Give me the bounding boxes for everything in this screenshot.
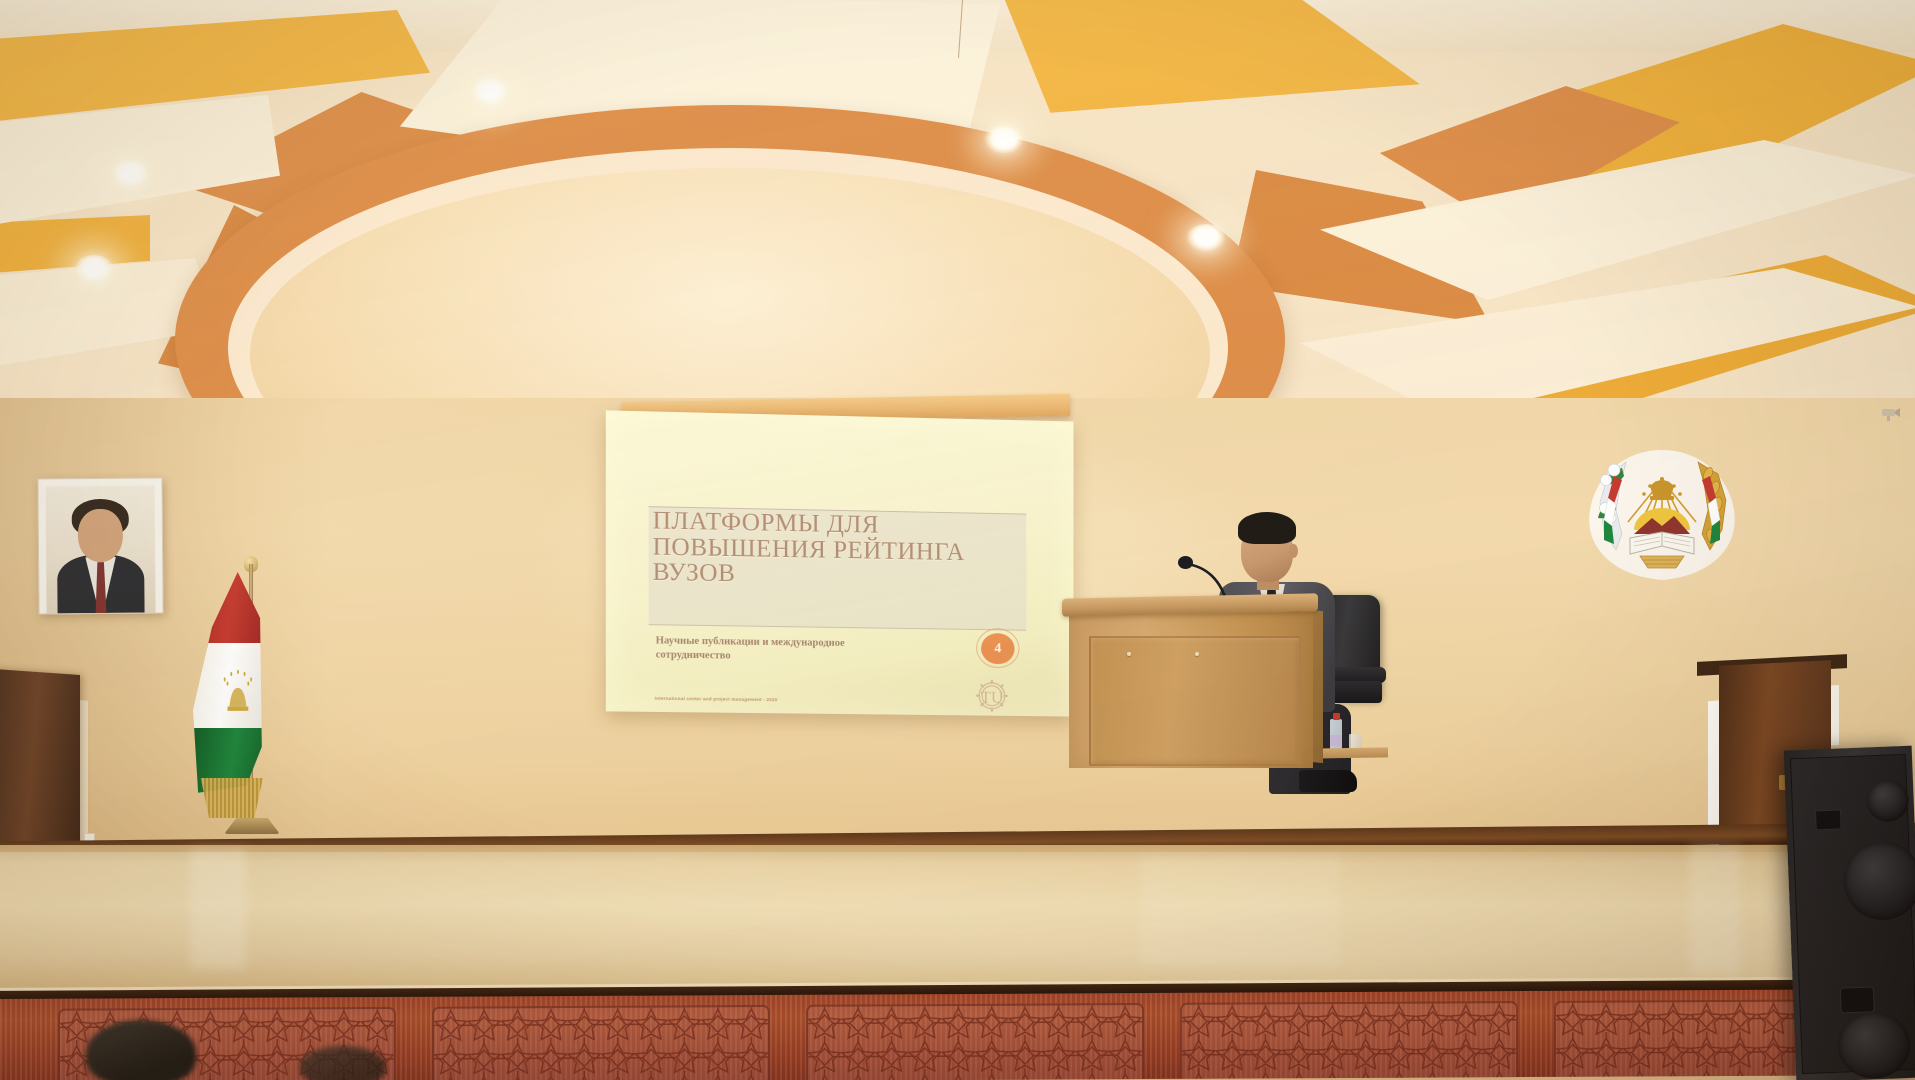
pa-speaker-tweeter <box>1866 779 1910 823</box>
floor-reflection <box>190 849 246 969</box>
pa-speaker-woofer <box>1842 840 1915 921</box>
slide-title: ПЛАТФОРМЫ ДЛЯ ПОВЫШЕНИЯ РЕЙТИНГА ВУЗОВ <box>653 508 1039 591</box>
presenter-hair <box>1238 512 1296 544</box>
recessed-downlight <box>984 126 1024 154</box>
water-bottle[interactable] <box>1330 713 1342 753</box>
stage-front-panel <box>1554 1000 1804 1080</box>
recessed-downlight <box>74 255 114 283</box>
pa-speaker-woofer <box>1837 1011 1911 1080</box>
flag-crown-emblem <box>219 669 257 715</box>
portrait-face <box>77 509 123 563</box>
tajikistan-national-emblem <box>1578 446 1746 584</box>
presenter-ear <box>1289 544 1298 558</box>
floor-reflection <box>1140 855 1340 965</box>
stage-front-panel <box>432 1005 770 1080</box>
presidential-portrait <box>37 477 163 614</box>
auditorium-scene: ПЛАТФОРМЫ ДЛЯ ПОВЫШЕНИЯ РЕЙТИНГА ВУЗОВ Н… <box>0 0 1915 1080</box>
bottle-label <box>1330 735 1342 746</box>
pa-speaker-handle <box>1840 986 1875 1013</box>
tajikistan-flag <box>196 556 306 846</box>
recessed-downlight <box>1186 224 1226 252</box>
podium-body <box>1069 612 1313 768</box>
security-camera-icon <box>1880 404 1902 422</box>
stage-floor <box>0 845 1915 997</box>
svg-text:TU: TU <box>981 688 1003 707</box>
portrait-photo <box>45 486 155 614</box>
stage-front-panel <box>1180 1001 1518 1080</box>
tu-gear-logo: TU <box>971 676 1012 716</box>
bottle-cap <box>1333 713 1340 720</box>
pa-speaker-face <box>1790 754 1915 1074</box>
screen-surface: ПЛАТФОРМЫ ДЛЯ ПОВЫШЕНИЯ РЕЙТИНГА ВУЗОВ Н… <box>606 410 1074 716</box>
recessed-downlight <box>110 160 150 188</box>
stage-front-panel <box>806 1003 1144 1080</box>
podium-stud <box>1127 652 1131 656</box>
presenter-shoe <box>1299 770 1357 792</box>
flag-fringe <box>194 778 278 818</box>
door-left[interactable] <box>0 669 80 857</box>
floor-reflection <box>1690 845 1740 975</box>
flag-cloth <box>193 572 279 802</box>
slide-number: 4 <box>981 633 1015 664</box>
presentation-slide: ПЛАТФОРМЫ ДЛЯ ПОВЫШЕНИЯ РЕЙТИНГА ВУЗОВ Н… <box>618 419 1062 707</box>
projector-screen: ПЛАТФОРМЫ ДЛЯ ПОВЫШЕНИЯ РЕЙТИНГА ВУЗОВ Н… <box>608 398 1076 728</box>
podium-stud <box>1195 652 1199 656</box>
slide-number-badge: 4 <box>976 628 1019 668</box>
wooden-podium <box>1063 600 1317 768</box>
audience-head <box>86 1020 196 1080</box>
badge-disc: 4 <box>981 633 1015 664</box>
flag-stand-base <box>224 818 280 834</box>
slide-subtitle: Научные публикации и международное сотру… <box>656 634 897 666</box>
recessed-downlight <box>470 78 510 106</box>
ceiling <box>0 0 1915 420</box>
flag-stripe-red <box>193 572 279 648</box>
stage-front-paneling <box>0 989 1915 1080</box>
slide-footer: International center and project managem… <box>655 696 778 702</box>
microphone-capsule <box>1178 556 1193 569</box>
pa-speaker-cabinet <box>1784 746 1915 1080</box>
audience-head <box>300 1046 386 1080</box>
pa-speaker-port <box>1815 809 1842 830</box>
